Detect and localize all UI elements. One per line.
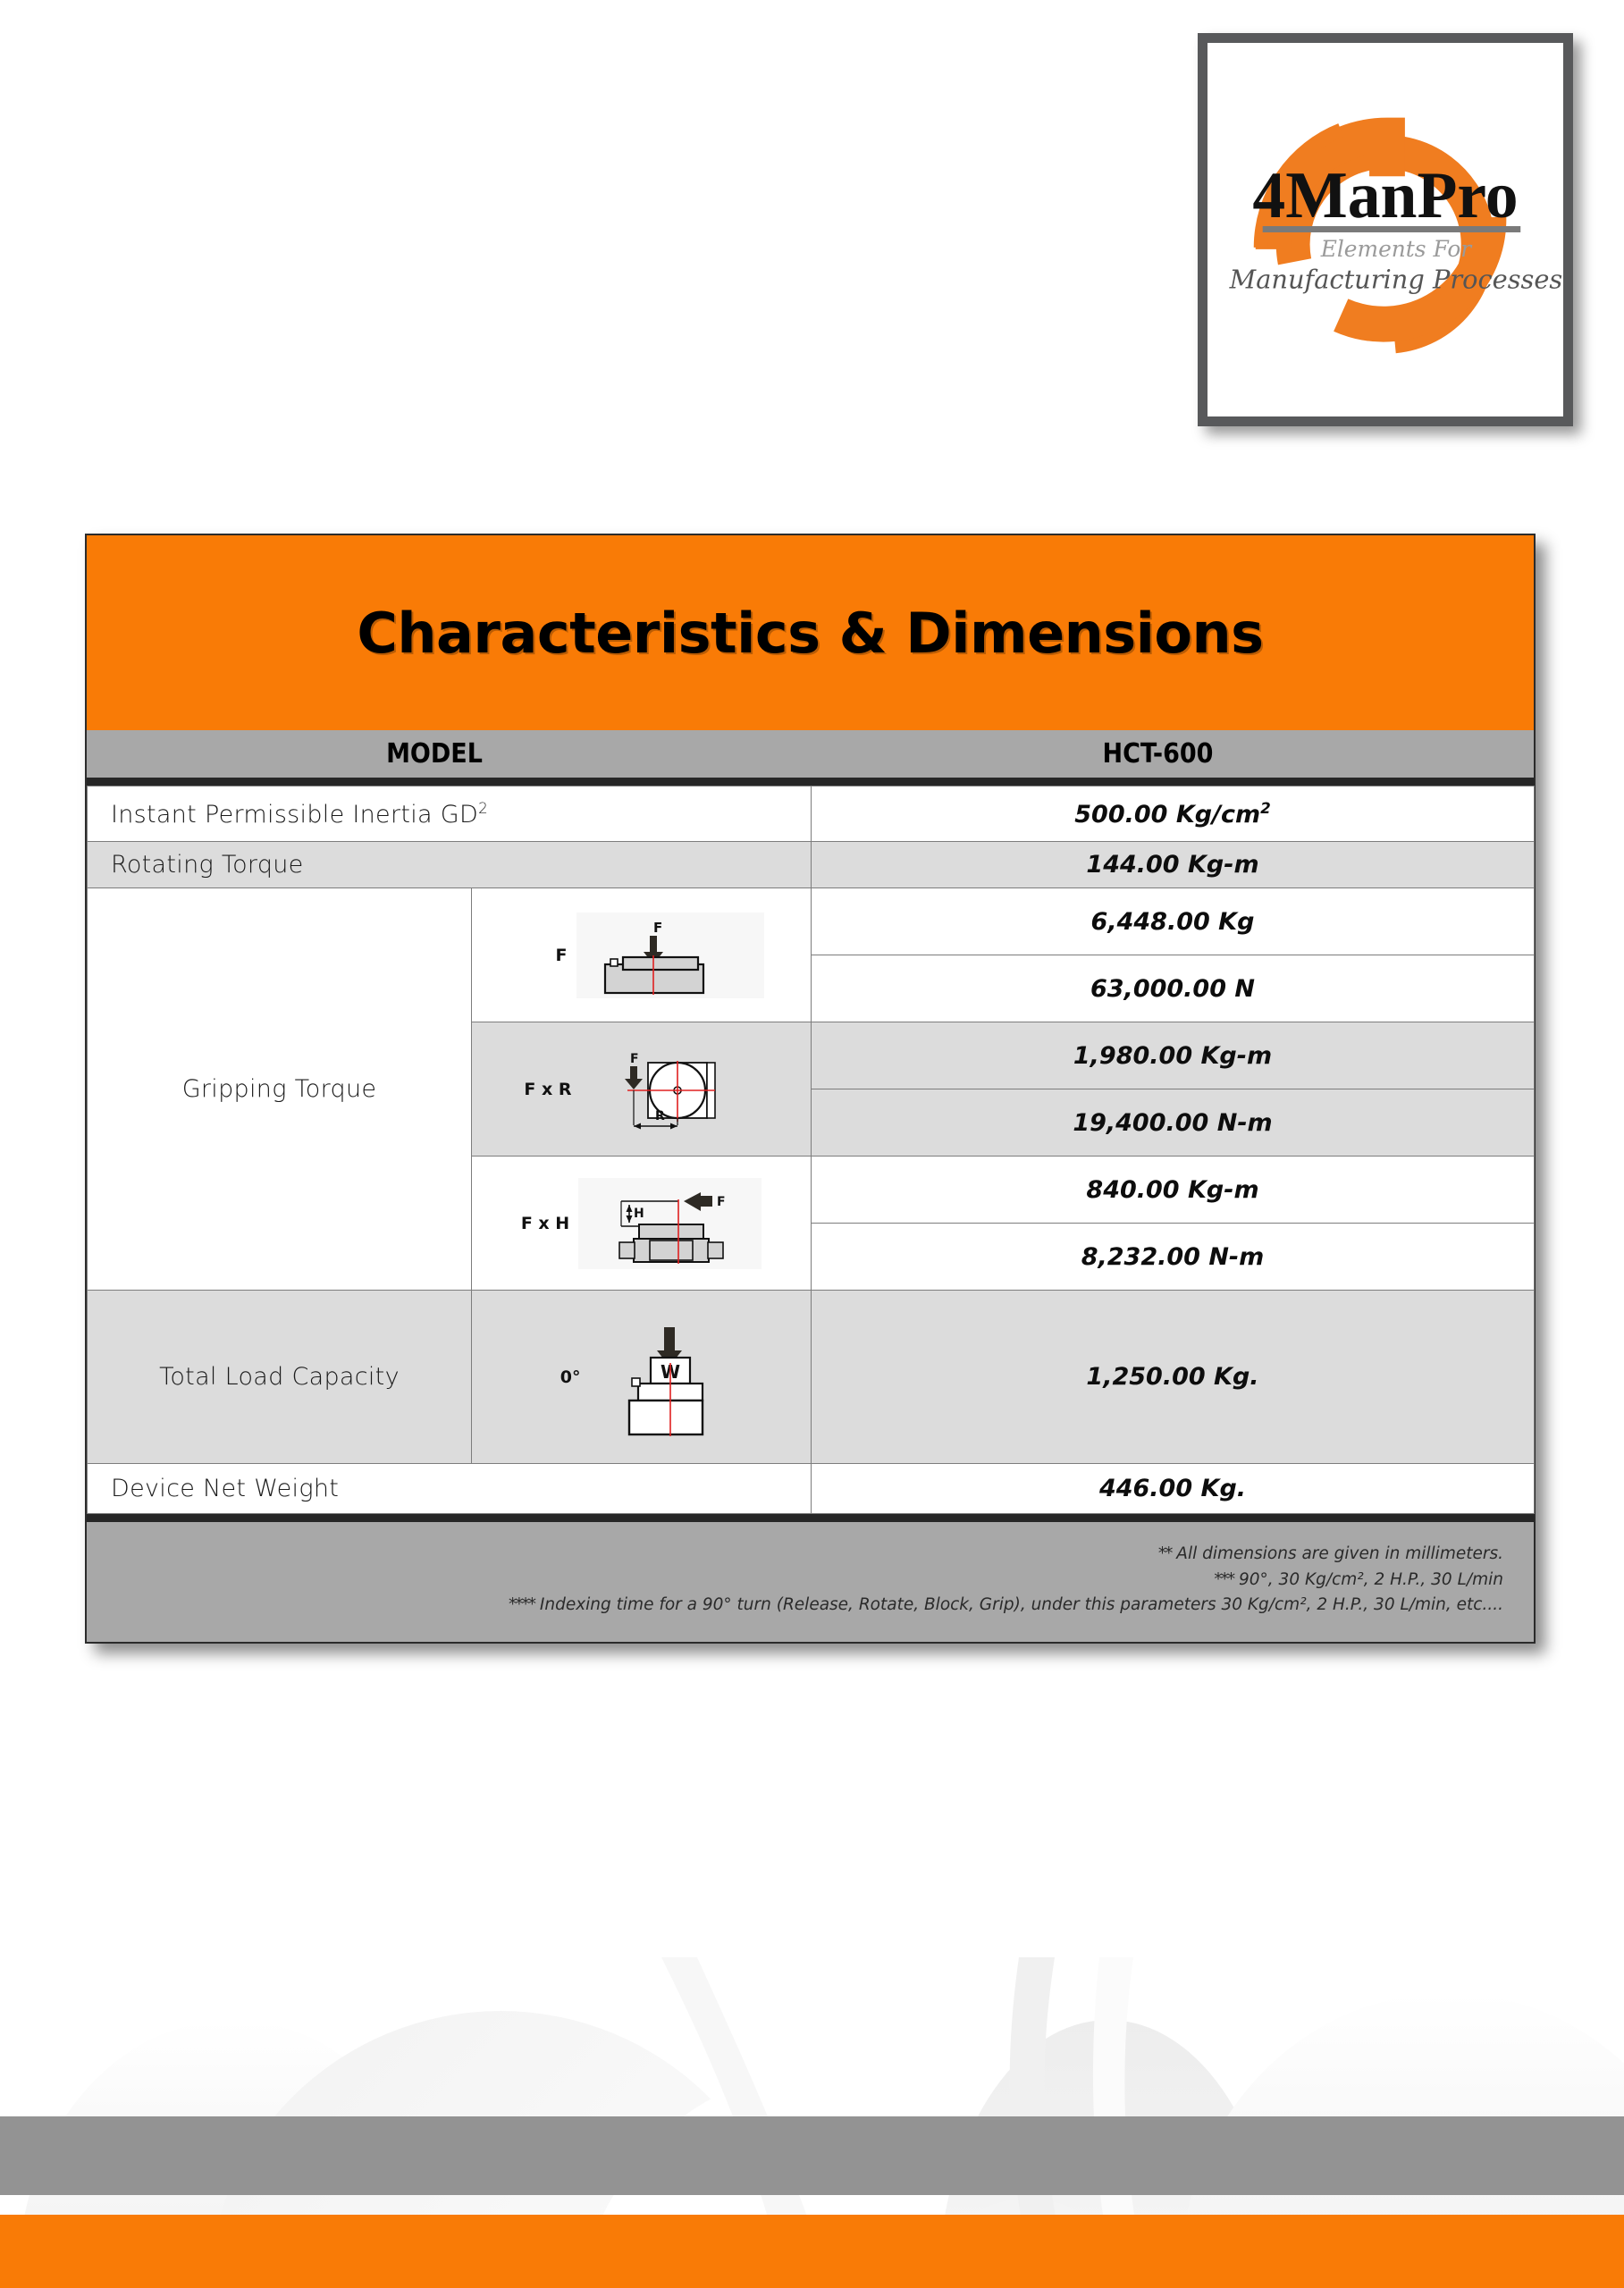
row-value-net-weight: 446.00 Kg.: [812, 1464, 1535, 1514]
row-label-net-weight: Device Net Weight: [88, 1464, 812, 1514]
svg-text:R: R: [655, 1109, 665, 1123]
force-radius-diagram: F R: [581, 1045, 760, 1134]
force-height-diagram: H F: [578, 1178, 762, 1269]
force-vertical-diagram: F: [576, 913, 764, 998]
diagram-label-fxr: F x R: [524, 1080, 572, 1099]
specifications-table: Instant Permissible Inertia GD2 500.00 K…: [87, 786, 1535, 1514]
table-row: Instant Permissible Inertia GD2 500.00 K…: [88, 786, 1535, 842]
cell-diagram-force-radius: F x R F: [472, 1022, 812, 1157]
bottom-grey-band: [0, 2116, 1624, 2195]
diagram-label-f: F: [519, 946, 568, 965]
table-row: Rotating Torque 144.00 Kg-m: [88, 842, 1535, 888]
logo-artwork: 4ManPro Elements For Manufacturing Proce…: [1207, 43, 1563, 416]
row-value-fxh-kgm: 840.00 Kg-m: [812, 1157, 1535, 1224]
card-title-bar: Characteristics & Dimensions: [87, 535, 1534, 730]
diagram-label-fxh: F x H: [521, 1214, 569, 1233]
cell-diagram-force-height: F x H H F: [472, 1157, 812, 1291]
cell-diagram-weight-load: 0° W: [472, 1291, 812, 1464]
company-logo: 4ManPro Elements For Manufacturing Proce…: [1207, 43, 1563, 416]
model-header-value: HCT-600: [782, 738, 1534, 770]
svg-text:H: H: [634, 1207, 644, 1221]
weight-load-diagram: W: [590, 1316, 751, 1437]
model-header-row: MODEL HCT-600: [87, 730, 1534, 786]
document-page: 4ManPro Elements For Manufacturing Proce…: [0, 0, 1624, 2288]
row-value-rotating-torque: 144.00 Kg-m: [812, 842, 1535, 888]
row-label-gripping-torque: Gripping Torque: [88, 888, 472, 1291]
row-label-instant-inertia: Instant Permissible Inertia GD2: [88, 786, 812, 842]
row-value-instant-inertia: 500.00 Kg/cm2: [812, 786, 1535, 842]
footnote-item: ** All dimensions are given in millimete…: [87, 1542, 1503, 1568]
table-row: Gripping Torque F F: [88, 888, 1535, 955]
row-value-fxh-nm: 8,232.00 N-m: [812, 1224, 1535, 1291]
footnote-item: **** Indexing time for a 90° turn (Relea…: [87, 1593, 1503, 1619]
row-value-f-n: 63,000.00 N: [812, 955, 1535, 1022]
row-value-fxr-nm: 19,400.00 N-m: [812, 1089, 1535, 1157]
footnotes-block: ** All dimensions are given in millimete…: [87, 1514, 1534, 1642]
model-header-label: MODEL: [87, 738, 782, 770]
row-label-rotating-torque: Rotating Torque: [88, 842, 812, 888]
logo-brand-text: 4ManPro: [1252, 158, 1518, 231]
row-value-total-load: 1,250.00 Kg.: [812, 1291, 1535, 1464]
logo-tagline-line1: Elements For: [1320, 236, 1474, 262]
svg-text:F: F: [653, 920, 662, 936]
row-value-f-kg: 6,448.00 Kg: [812, 888, 1535, 955]
row-label-total-load: Total Load Capacity: [88, 1291, 472, 1464]
diagram-label-zero-degrees: 0°: [533, 1367, 581, 1387]
page-title: Characteristics & Dimensions: [357, 601, 1263, 666]
cell-diagram-force-vertical: F F: [472, 888, 812, 1022]
table-row: Device Net Weight 446.00 Kg.: [88, 1464, 1535, 1514]
svg-text:F: F: [630, 1052, 639, 1066]
logo-tagline-line2: Manufacturing Processes: [1229, 265, 1563, 295]
row-value-fxr-kgm: 1,980.00 Kg-m: [812, 1022, 1535, 1089]
company-logo-frame: 4ManPro Elements For Manufacturing Proce…: [1198, 33, 1573, 426]
bottom-orange-band: [0, 2215, 1624, 2288]
table-row: Total Load Capacity 0° W: [88, 1291, 1535, 1464]
footnote-item: *** 90°, 30 Kg/cm², 2 H.P., 30 L/min: [87, 1568, 1503, 1594]
svg-text:F: F: [717, 1195, 726, 1209]
specifications-card: Characteristics & Dimensions MODEL HCT-6…: [85, 534, 1536, 1644]
